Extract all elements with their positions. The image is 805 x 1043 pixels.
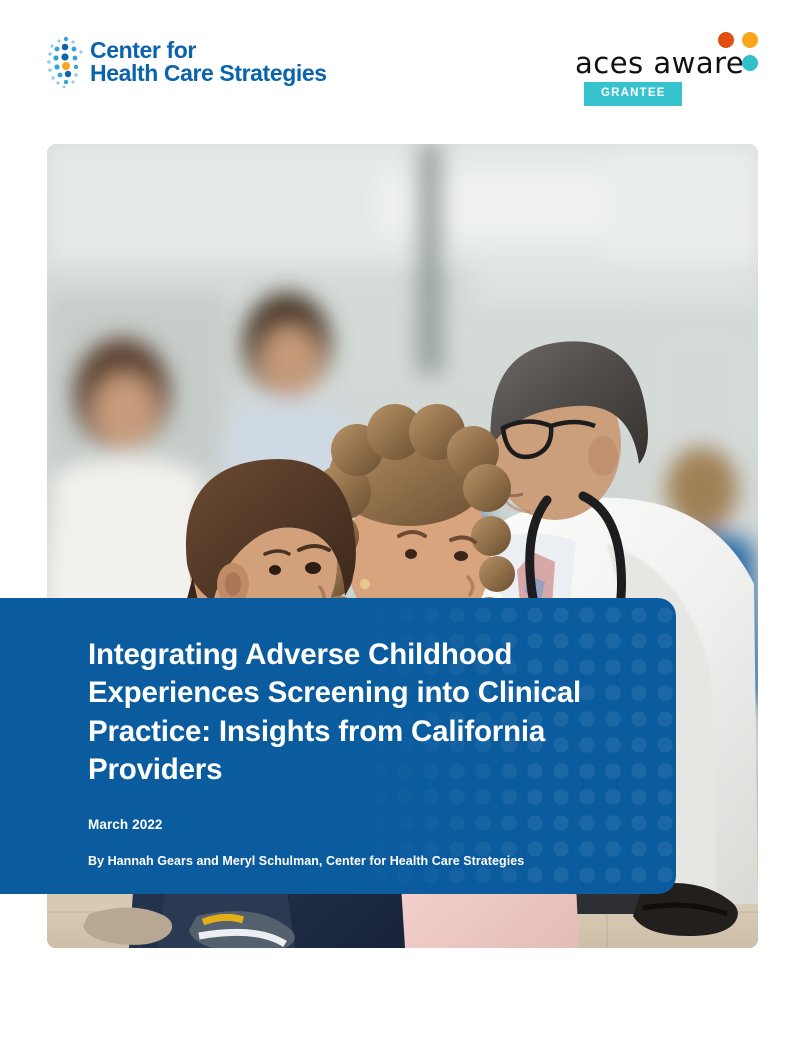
chcs-wordmark-line2: Health Care Strategies <box>90 62 327 85</box>
dot-teal-icon <box>742 55 758 71</box>
chcs-logo: Center for Health Care Strategies <box>47 36 327 88</box>
dot-orange-icon <box>718 32 734 48</box>
document-cover-page: Center for Health Care Strategies aces a… <box>0 0 805 1043</box>
publication-date: March 2022 <box>88 817 636 832</box>
author-byline: By Hannah Gears and Meryl Schulman, Cent… <box>88 854 636 868</box>
aces-aware-dot-cluster-icon <box>718 30 760 72</box>
chcs-wordmark-line1: Center for <box>90 39 327 62</box>
grantee-badge: GRANTEE <box>584 82 682 106</box>
overlay-content: Integrating Adverse Childhood Experience… <box>88 636 636 868</box>
chcs-dot-cluster-icon <box>47 36 85 88</box>
cover-header: Center for Health Care Strategies aces a… <box>0 0 805 130</box>
page-title: Integrating Adverse Childhood Experience… <box>88 636 628 789</box>
aces-aware-logo: aces aware GRANTEE <box>575 30 760 102</box>
dot-amber-icon <box>742 32 758 48</box>
title-overlay-panel: Integrating Adverse Childhood Experience… <box>0 598 676 894</box>
chcs-wordmark: Center for Health Care Strategies <box>90 39 327 86</box>
